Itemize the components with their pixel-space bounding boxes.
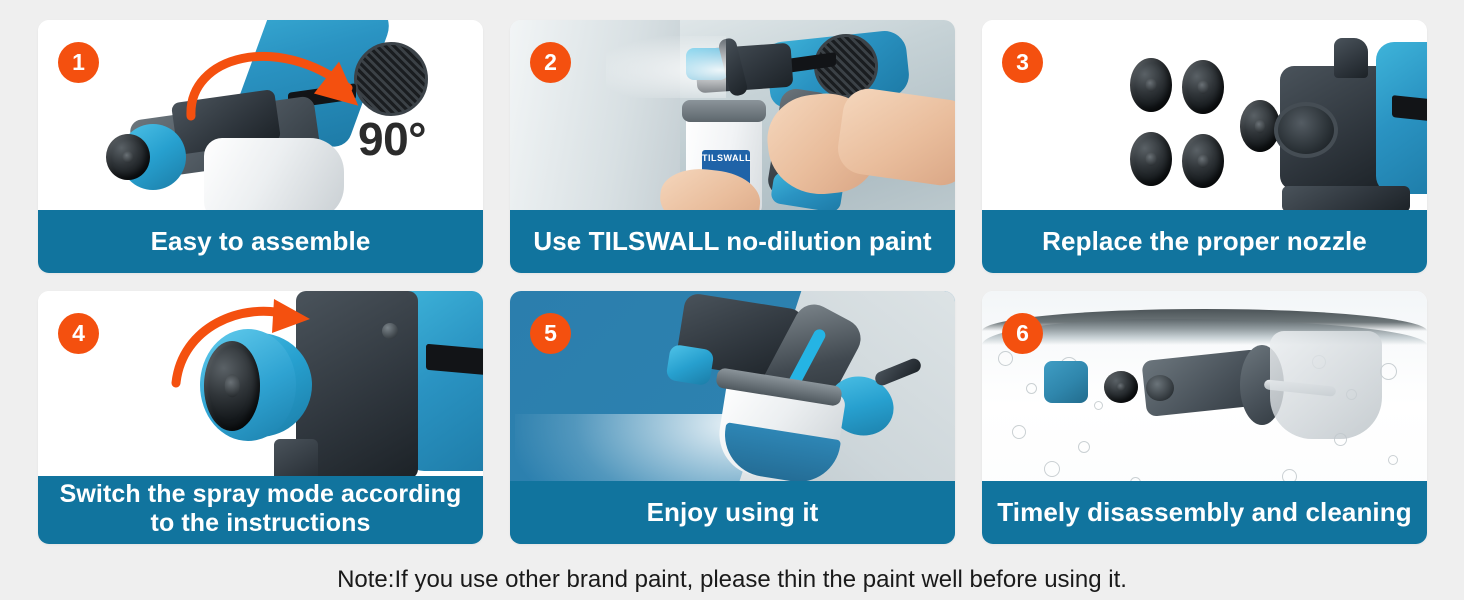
step-number-badge: 6: [1002, 313, 1043, 354]
steps-grid: 90° 1 Easy to assemble: [38, 20, 1426, 544]
step-caption-text: Replace the proper nozzle: [1042, 226, 1367, 257]
step-caption-5: Enjoy using it: [510, 481, 955, 544]
nozzle-collar-part: [1044, 361, 1088, 403]
brand-logo-text: TILSWALL: [702, 153, 750, 163]
sprayer-nozzle-collar: [665, 344, 714, 386]
step-caption-text: Enjoy using it: [647, 497, 819, 528]
step-number-badge: 2: [530, 42, 571, 83]
paint-mist: [606, 36, 726, 98]
step-card-1[interactable]: 90° 1 Easy to assemble: [38, 20, 483, 273]
step-number-badge: 1: [58, 42, 99, 83]
step-card-3[interactable]: 3 Replace the proper nozzle: [982, 20, 1427, 273]
cup-collar: [682, 100, 766, 122]
sprayer-hook: [1334, 38, 1368, 78]
steps-infographic: 90° 1 Easy to assemble: [0, 0, 1464, 600]
step-card-6[interactable]: 6 Timely disassembly and cleaning: [982, 291, 1427, 544]
valve-port: [1146, 375, 1174, 401]
sprayer-nozzle-tip: [106, 134, 150, 180]
step-caption-4: Switch the spray mode according to the i…: [38, 476, 483, 544]
rotation-arrow-icon: [164, 297, 324, 393]
step-caption-line-1: Switch the spray mode according: [60, 480, 462, 509]
step-caption-6: Timely disassembly and cleaning: [982, 481, 1427, 544]
step-card-4[interactable]: 4 Switch the spray mode according to the…: [38, 291, 483, 544]
nozzle-disc: [1130, 58, 1172, 112]
sprayer-screw: [382, 323, 398, 339]
step-caption-3: Replace the proper nozzle: [982, 210, 1427, 273]
nozzle-disc: [1130, 132, 1172, 186]
step-number-badge: 4: [58, 313, 99, 354]
sprayer-nozzle-socket: [1274, 102, 1338, 158]
step-caption-line-2: to the instructions: [60, 509, 462, 538]
step-card-5[interactable]: 5 Enjoy using it: [510, 291, 955, 544]
step-caption-text: Easy to assemble: [151, 226, 371, 257]
sprayer-base-foot: [1282, 186, 1410, 212]
step-caption-1: Easy to assemble: [38, 210, 483, 273]
nozzle-disc: [1182, 60, 1224, 114]
footer-note: Note:If you use other brand paint, pleas…: [0, 566, 1464, 594]
angle-annotation: 90°: [358, 112, 426, 166]
step-caption-block: Switch the spray mode according to the i…: [60, 480, 462, 538]
step-number-badge: 3: [1002, 42, 1043, 83]
paint-container-cup: [204, 138, 344, 220]
nozzle-disc-part: [1104, 371, 1138, 403]
step-card-2[interactable]: TILSWALL 2 Use TILSWALL no-dilution pain…: [510, 20, 955, 273]
rotation-arrow-icon: [158, 30, 378, 140]
step-caption-text: Timely disassembly and cleaning: [997, 497, 1411, 528]
step-caption-text: Use TILSWALL no-dilution paint: [533, 226, 931, 257]
paint-container-cup-part: [1270, 331, 1382, 439]
step-caption-2: Use TILSWALL no-dilution paint: [510, 210, 955, 273]
nozzle-disc: [1182, 134, 1224, 188]
step-number-badge: 5: [530, 313, 571, 354]
